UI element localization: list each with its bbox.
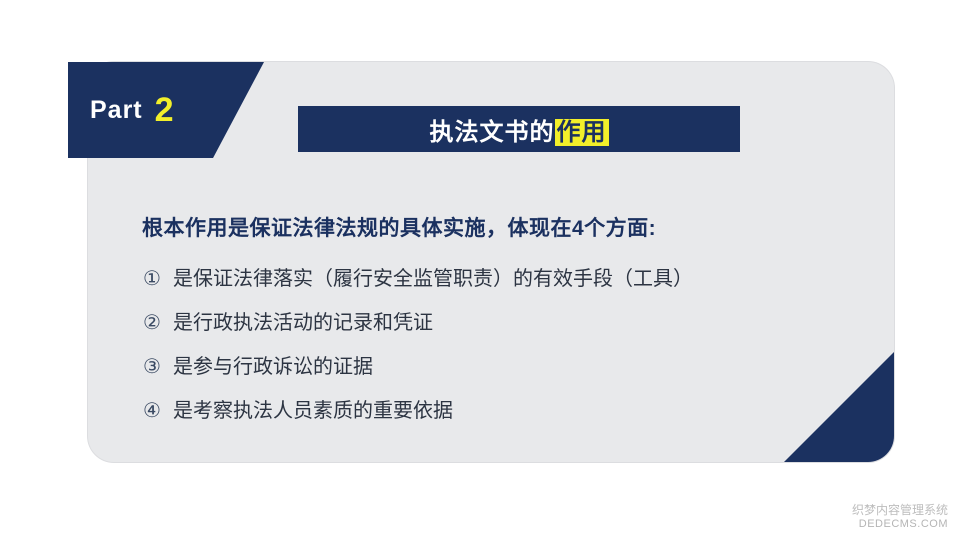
slide-title: 执法文书的作用 <box>430 112 609 147</box>
list-item-text: 是参与行政诉讼的证据 <box>173 352 373 382</box>
slide-title-prefix: 执法文书的 <box>430 119 555 146</box>
list-item-marker: ② <box>143 308 173 338</box>
list-item: ① 是保证法律落实（履行安全监管职责）的有效手段（工具） <box>143 264 843 294</box>
list-item-text: 是行政执法活动的记录和凭证 <box>173 308 433 338</box>
watermark-cn: 织梦内容管理系统 <box>852 503 948 518</box>
bullet-list: ① 是保证法律落实（履行安全监管职责）的有效手段（工具） ② 是行政执法活动的记… <box>143 264 843 440</box>
part-label: Part <box>90 96 143 125</box>
slide-title-highlight: 作用 <box>555 119 609 146</box>
list-item: ④ 是考察执法人员素质的重要依据 <box>143 396 843 426</box>
list-item: ③ 是参与行政诉讼的证据 <box>143 352 843 382</box>
list-item: ② 是行政执法活动的记录和凭证 <box>143 308 843 338</box>
list-item-marker: ④ <box>143 396 173 426</box>
watermark: 织梦内容管理系统 DEDECMS.COM <box>852 503 948 532</box>
list-item-text: 是考察执法人员素质的重要依据 <box>173 396 453 426</box>
slide-title-bar: 执法文书的作用 <box>298 106 740 152</box>
list-item-marker: ③ <box>143 352 173 382</box>
lead-statement: 根本作用是保证法律法规的具体实施，体现在4个方面: <box>142 212 656 242</box>
slide: Part 2 执法文书的作用 根本作用是保证法律法规的具体实施，体现在4个方面:… <box>0 0 960 540</box>
part-number: 2 <box>155 93 174 127</box>
watermark-en: DEDECMS.COM <box>852 518 948 532</box>
list-item-marker: ① <box>143 264 173 294</box>
list-item-text: 是保证法律落实（履行安全监管职责）的有效手段（工具） <box>173 264 693 294</box>
